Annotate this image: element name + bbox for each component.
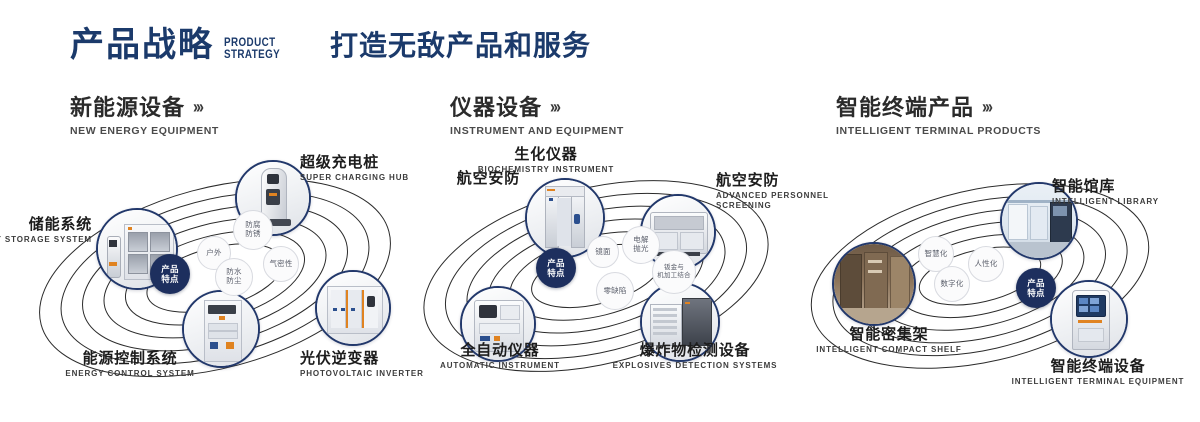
label-self-service-kiosk: 智能终端设备 INTELLIGENT TERMINAL EQUIPMENT xyxy=(996,358,1200,387)
label-compact-shelving: 智能密集架 INTELLIGENT COMPACT SHELF xyxy=(794,326,984,355)
label-cn-explosives-detection: 爆炸物检测设备 xyxy=(595,342,795,359)
label-cn-energy-control: 能源控制系统 xyxy=(20,350,240,367)
bubble-core-product-features-2[interactable]: 产品 特点 xyxy=(1016,268,1056,308)
bubble-feature-text-1-3: 零缺陷 xyxy=(603,287,626,296)
section-title-cn-2: 智能终端产品 ››› xyxy=(836,96,1041,120)
title-en-line2: STRATEGY xyxy=(224,48,280,60)
poster-title: 产品战略 PRODUCT STRATEGY xyxy=(70,28,292,62)
section-title-text-0: 新能源设备 xyxy=(70,96,185,120)
label-cn-biochemistry: 生化仪器 xyxy=(456,146,636,163)
label-en-energy-storage: ENERGY STORAGE SYSTEM xyxy=(0,235,92,245)
bubble-core-line2-1: 特点 xyxy=(547,268,564,278)
chevron-right-icon-0: ››› xyxy=(193,98,202,119)
bubble-feature-text-2-0: 智慧化 xyxy=(924,250,947,259)
chevron-right-icon-2: ››› xyxy=(982,98,991,119)
bubble-core-product-features-1[interactable]: 产品 特点 xyxy=(536,248,576,288)
bubble-feature-1-1[interactable]: 电解 抛光 xyxy=(622,226,660,264)
section-header-instrument: 仪器设备 ››› INSTRUMENT AND EQUIPMENT xyxy=(450,96,624,137)
bubble-feature-text-1-1b: 抛光 xyxy=(633,245,648,254)
section-title-text-1: 仪器设备 xyxy=(450,96,542,120)
bubble-feature-2-2[interactable]: 数字化 xyxy=(934,266,970,302)
bubble-core-line1-2: 产品 xyxy=(1027,278,1044,288)
bubble-feature-text-2-1: 人性化 xyxy=(974,260,997,269)
title-cn: 产品战略 xyxy=(70,28,214,62)
section-header-new-energy: 新能源设备 ››› NEW ENERGY EQUIPMENT xyxy=(70,96,219,137)
label-en-compact-shelving: INTELLIGENT COMPACT SHELF xyxy=(794,345,984,355)
node-self-service-kiosk[interactable] xyxy=(1050,280,1128,358)
bubble-feature-2-1[interactable]: 人性化 xyxy=(968,246,1004,282)
bubble-feature-0-1[interactable]: 防腐 防锈 xyxy=(233,210,273,250)
label-en-automatic-instrument: AUTOMATIC INSTRUMENT xyxy=(410,361,590,371)
label-en-biochemistry: BIOCHEMISTRY INSTRUMENT xyxy=(456,165,636,175)
bubble-feature-text-1-2b: 机加工结合 xyxy=(657,272,691,280)
title-en: PRODUCT STRATEGY xyxy=(224,36,280,60)
diagram-intelligent-terminal: 智能馆库 INTELLIGENT LIBRARY 智能密集架 INTELLIGE… xyxy=(800,150,1200,410)
label-energy-control-system: 能源控制系统 ENERGY CONTROL SYSTEM xyxy=(20,350,240,379)
bubble-feature-1-3[interactable]: 零缺陷 xyxy=(596,272,634,310)
section-title-cn-0: 新能源设备 ››› xyxy=(70,96,219,120)
bubble-core-line1-0: 产品 xyxy=(161,264,178,274)
bubble-core-line1-1: 产品 xyxy=(547,258,564,268)
section-title-cn-1: 仪器设备 ››› xyxy=(450,96,624,120)
bubble-core-product-features-0[interactable]: 产品 特点 xyxy=(150,254,190,294)
label-biochemistry-instrument: 生化仪器 BIOCHEMISTRY INSTRUMENT xyxy=(456,146,636,175)
label-en-terminal-equipment: INTELLIGENT TERMINAL EQUIPMENT xyxy=(996,377,1200,387)
section-header-intelligent: 智能终端产品 ››› INTELLIGENT TERMINAL PRODUCTS xyxy=(836,96,1041,137)
label-energy-storage-system: 储能系统 ENERGY STORAGE SYSTEM xyxy=(0,216,92,245)
label-en-energy-control: ENERGY CONTROL SYSTEM xyxy=(20,369,240,379)
label-cn-automatic-instrument: 全自动仪器 xyxy=(410,342,590,359)
poster-slogan: 打造无敌产品和服务 xyxy=(330,32,591,60)
section-title-text-2: 智能终端产品 xyxy=(836,96,974,120)
label-cn-smart-library: 智能馆库 xyxy=(1052,178,1200,195)
section-title-en-1: INSTRUMENT AND EQUIPMENT xyxy=(450,125,624,137)
node-compact-shelving[interactable] xyxy=(832,242,916,326)
label-explosives-detection: 爆炸物检测设备 EXPLOSIVES DETECTION SYSTEMS xyxy=(595,342,795,371)
label-automatic-instrument: 全自动仪器 AUTOMATIC INSTRUMENT xyxy=(410,342,590,371)
bubble-feature-text-0-0: 户外 xyxy=(206,249,221,258)
bubble-feature-text-0-3b: 防尘 xyxy=(226,277,241,286)
label-en-explosives-detection: EXPLOSIVES DETECTION SYSTEMS xyxy=(595,361,795,371)
label-cn-compact-shelving: 智能密集架 xyxy=(794,326,984,343)
bubble-feature-text-1-2a: 钣金与 xyxy=(664,264,684,272)
bubble-core-line2-2: 特点 xyxy=(1027,288,1044,298)
label-cn-terminal-equipment: 智能终端设备 xyxy=(996,358,1200,375)
chevron-right-icon-1: ››› xyxy=(550,98,559,119)
bubble-feature-1-2[interactable]: 钣金与 机加工结合 xyxy=(652,250,696,294)
bubble-feature-0-3[interactable]: 防水 防尘 xyxy=(215,258,253,296)
bubble-core-line2-0: 特点 xyxy=(161,274,178,284)
diagram-new-energy: 储能系统 ENERGY STORAGE SYSTEM 超级充电桩 SUPER C… xyxy=(0,150,420,410)
label-cn-energy-storage: 储能系统 xyxy=(0,216,92,233)
label-en-smart-library: INTELLIGENT LIBRARY xyxy=(1052,197,1200,207)
photo-compact-shelving xyxy=(834,244,914,324)
section-title-en-0: NEW ENERGY EQUIPMENT xyxy=(70,125,219,137)
label-smart-library: 智能馆库 INTELLIGENT LIBRARY xyxy=(1052,178,1200,207)
bubble-feature-text-0-1b: 防锈 xyxy=(245,230,260,239)
bubble-feature-text-0-2: 气密性 xyxy=(269,260,292,269)
bubble-feature-1-0[interactable]: 镜面 xyxy=(587,236,619,268)
bubble-feature-text-2-2: 数字化 xyxy=(940,280,963,289)
photo-self-service-kiosk xyxy=(1052,282,1126,356)
section-title-en-2: INTELLIGENT TERMINAL PRODUCTS xyxy=(836,125,1041,137)
bubble-feature-0-2[interactable]: 气密性 xyxy=(263,246,299,282)
bubble-feature-text-1-0: 镜面 xyxy=(595,248,610,257)
diagram-instrument: 航空安防 生化仪器 BIOCHEMISTRY INSTRUMENT xyxy=(400,150,800,410)
poster-canvas: 产品战略 PRODUCT STRATEGY 打造无敌产品和服务 新能源设备 ››… xyxy=(0,0,1200,422)
